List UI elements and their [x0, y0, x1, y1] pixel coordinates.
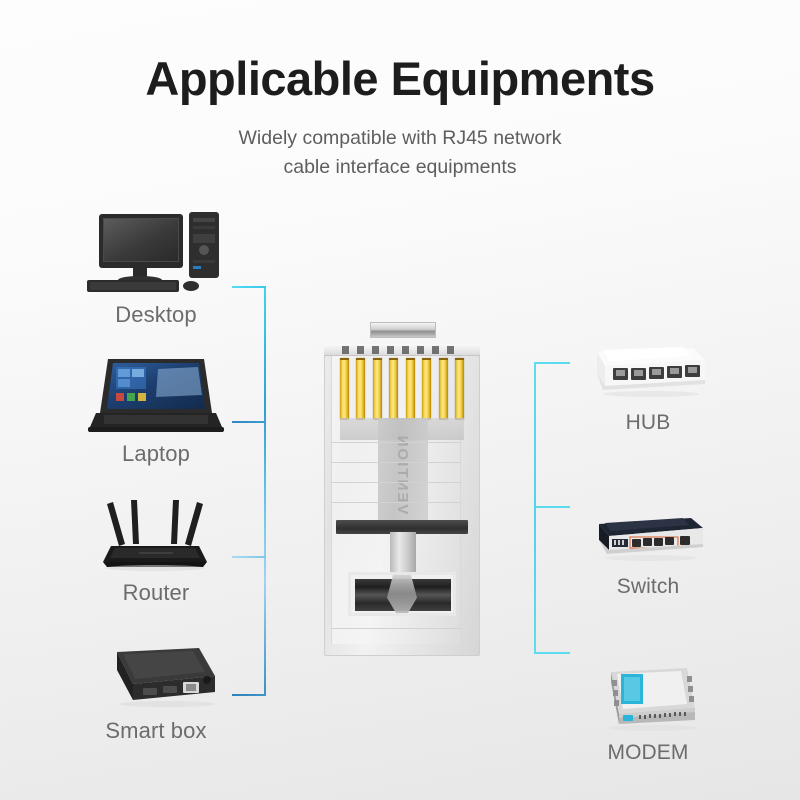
- laptop-icon: [56, 349, 256, 435]
- bracket-branch-router: [232, 556, 266, 558]
- gold-pin: [455, 358, 464, 420]
- connector-rib: [331, 502, 461, 503]
- device-switch: Switch: [548, 482, 748, 598]
- bracket-branch-laptop: [232, 421, 266, 423]
- connector-rib: [331, 482, 461, 483]
- device-hub: HUB: [548, 318, 748, 434]
- network-switch-icon: [548, 482, 748, 568]
- connector-rib: [331, 442, 461, 443]
- bracket-branch-desktop: [232, 286, 266, 288]
- connector-rib: [331, 462, 461, 463]
- modem-icon: [548, 648, 748, 734]
- device-label: Laptop: [56, 442, 256, 466]
- subtitle-line-2: cable interface equipments: [0, 153, 800, 182]
- gold-pin: [389, 358, 398, 420]
- right-device-column: HUB: [548, 318, 748, 764]
- network-hub-icon: [548, 318, 748, 404]
- gold-pin: [422, 358, 431, 420]
- connector-pin-housing: [324, 344, 480, 356]
- device-laptop: Laptop: [56, 349, 256, 466]
- smart-box-icon: [56, 626, 256, 712]
- device-smart-box: Smart box: [56, 626, 256, 743]
- left-device-column: Desktop: [56, 210, 256, 743]
- brand-text: VENTION: [353, 449, 453, 499]
- page-title: Applicable Equipments: [0, 55, 800, 102]
- device-modem: MODEM: [548, 648, 748, 764]
- header: Applicable Equipments Widely compatible …: [0, 0, 800, 183]
- connector-gold-pins: [340, 358, 464, 420]
- device-router: Router: [56, 488, 256, 605]
- gold-pin: [373, 358, 382, 420]
- left-connector-bracket: [232, 286, 272, 696]
- gold-pin: [439, 358, 448, 420]
- wifi-router-icon: [56, 488, 256, 574]
- device-label: MODEM: [548, 741, 748, 764]
- gold-pin: [406, 358, 415, 420]
- device-label: Switch: [548, 575, 748, 598]
- bracket-spine: [534, 362, 536, 654]
- page-subtitle: Widely compatible with RJ45 network cabl…: [0, 124, 800, 183]
- device-label: Desktop: [56, 303, 256, 327]
- gold-pin: [340, 358, 349, 420]
- device-label: Router: [56, 581, 256, 605]
- bracket-branch-smart-box: [232, 694, 266, 696]
- bracket-spine: [264, 286, 266, 696]
- connector-rib: [331, 628, 461, 629]
- connector-lower-window: [348, 572, 456, 616]
- desktop-computer-icon: [56, 210, 256, 296]
- device-label: HUB: [548, 411, 748, 434]
- rj45-connector: VENTION: [318, 322, 486, 660]
- subtitle-line-1: Widely compatible with RJ45 network: [0, 124, 800, 153]
- connector-metal-tab: [370, 322, 436, 338]
- gold-pin: [356, 358, 365, 420]
- device-desktop: Desktop: [56, 210, 256, 327]
- device-label: Smart box: [56, 719, 256, 743]
